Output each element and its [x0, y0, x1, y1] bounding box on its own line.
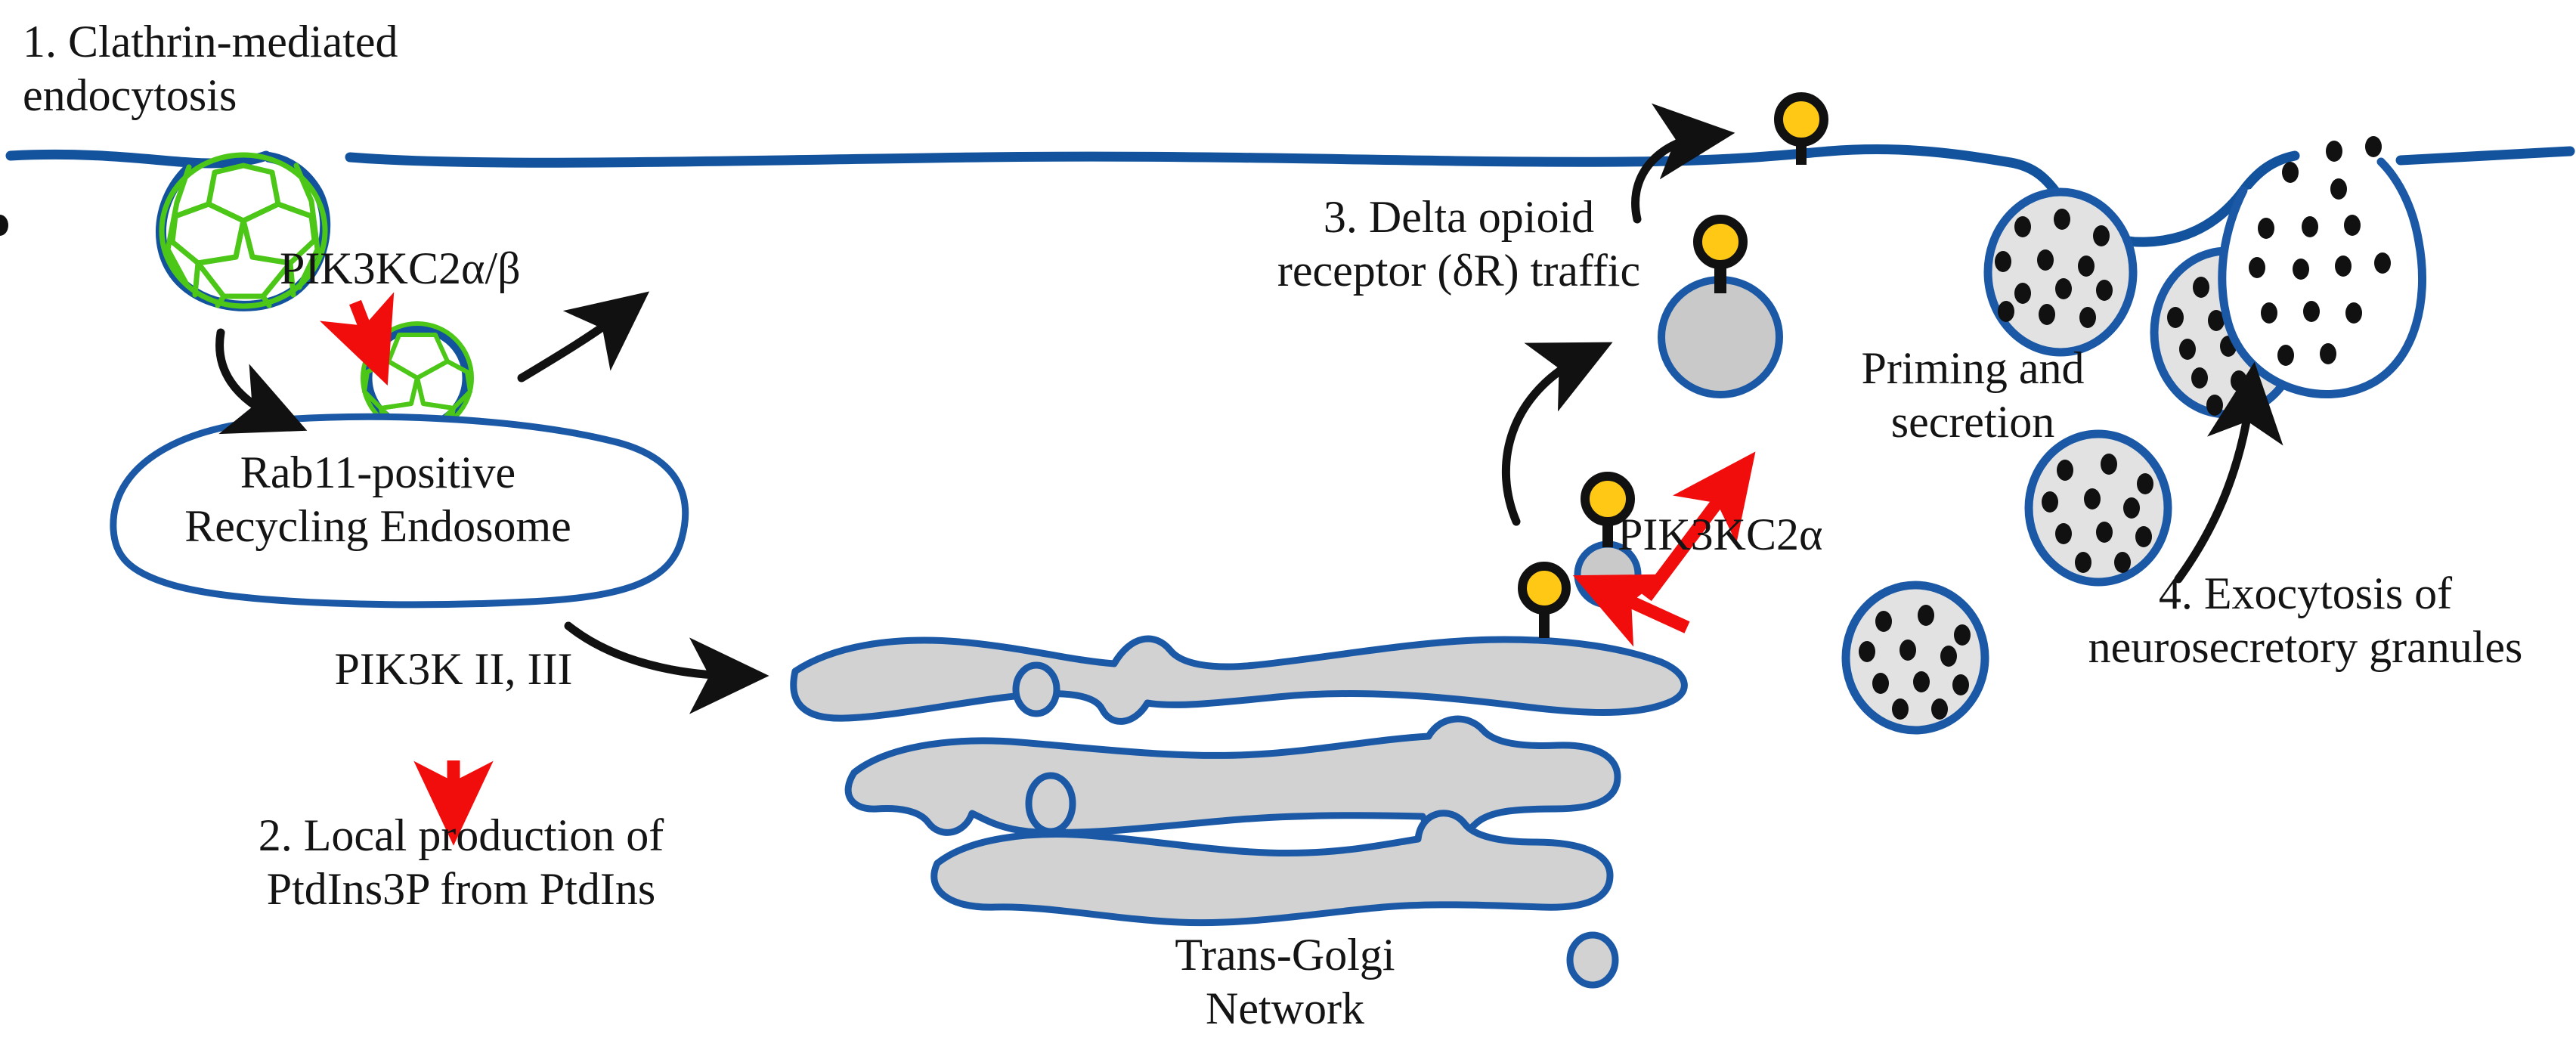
secretory-granule: [1846, 585, 1985, 730]
golgi-vesicle: [1570, 935, 1615, 985]
label-priming-and-secretion: Priming and secretion: [1761, 342, 2184, 449]
arrow-pik3kc2ab-to-vesicle: [355, 302, 376, 357]
golgi-vesicle: [1016, 665, 1057, 714]
label-step2-local-production: 2. Local production of PtdIns3P from Ptd…: [174, 809, 748, 916]
arrow-vesicle-to-membrane: [522, 310, 626, 378]
label-pik3kc2-alpha-beta: PIK3KC2α/β: [280, 242, 597, 296]
label-pik3kc2-alpha: PIK3KC2α: [1618, 508, 1935, 562]
arrow-granule-to-membrane: [2178, 392, 2251, 579]
receptor-on-golgi: [1522, 566, 1566, 638]
secretory-granule: [1988, 192, 2133, 352]
label-step3-delta-opioid-traffic: 3. Delta opioid receptor (δR) traffic: [1202, 190, 1716, 298]
label-pik3k-ii-iii: PIK3K II, III: [280, 643, 627, 696]
label-step1-clathrin-endocytosis: 1. Clathrin-mediated endocytosis: [23, 15, 491, 122]
secretory-granule: [2029, 434, 2168, 582]
pathway-diagram-canvas: 1. Clathrin-mediated endocytosis PIK3KC2…: [0, 0, 2576, 1053]
golgi-vesicle: [1029, 776, 1073, 832]
arrow-golgi-to-receptor-vesicle: [1506, 355, 1586, 522]
label-trans-golgi-network: Trans-Golgi Network: [1081, 928, 1489, 1036]
arrow-pit-to-endosome: [220, 333, 280, 419]
label-step4-exocytosis: 4. Exocytosis of neurosecretory granules: [2041, 567, 2570, 674]
label-rab11-recycling-endosome: Rab11-positive Recycling Endosome: [144, 446, 612, 553]
